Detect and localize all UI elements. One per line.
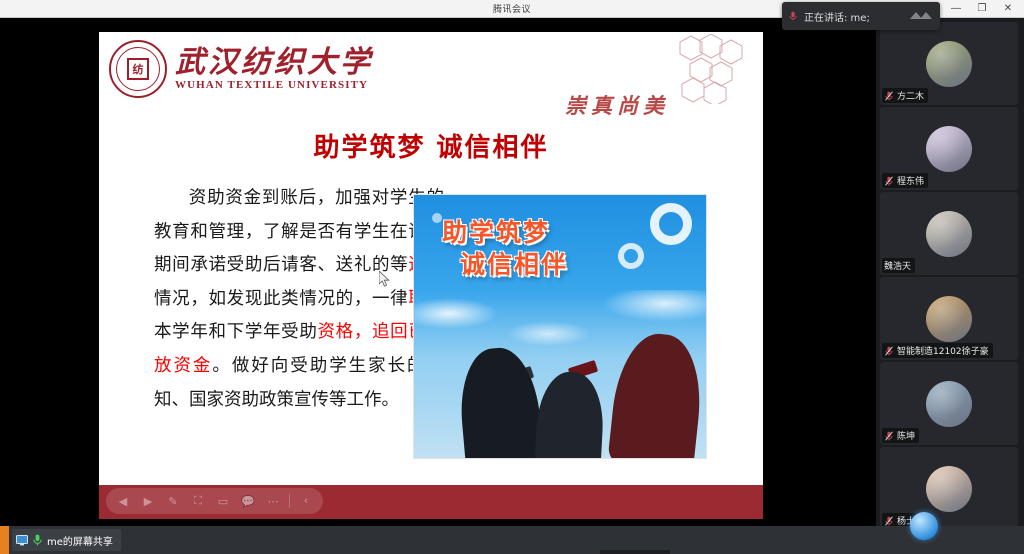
slide-title: 助学筑梦 诚信相伴 bbox=[99, 127, 763, 164]
presentation-toolbar[interactable]: ◀ ▶ ✎ ⛶ ▭ 💬 ⋯ ‹ bbox=[106, 488, 323, 514]
collapse-toolbar-button[interactable]: ‹ bbox=[295, 490, 317, 512]
university-branding: 纺 武汉纺织大学 WUHAN TEXTILE UNIVERSITY bbox=[109, 40, 373, 98]
cloud-decoration-icon bbox=[618, 243, 644, 269]
avatar bbox=[926, 211, 972, 257]
cloud-decoration-icon bbox=[432, 213, 442, 223]
start-button[interactable] bbox=[0, 526, 9, 554]
double-chevron-icon[interactable] bbox=[908, 9, 934, 23]
window-title: 腾讯会议 bbox=[493, 2, 531, 15]
photo-caption: 助学筑梦 诚信相伴 bbox=[442, 217, 568, 281]
graduate-figure bbox=[534, 370, 605, 459]
muted-mic-icon bbox=[884, 516, 894, 526]
participant-name: 智能制造12102徐子豪 bbox=[897, 344, 989, 357]
avatar bbox=[926, 41, 972, 87]
windows-taskbar: me的屏幕共享 bbox=[0, 526, 1024, 554]
microphone-icon bbox=[788, 11, 798, 21]
muted-mic-icon bbox=[884, 431, 894, 441]
window-controls: — ❐ ✕ bbox=[950, 0, 1020, 18]
hexagon-decoration-icon bbox=[671, 34, 745, 104]
muted-mic-icon bbox=[884, 176, 894, 186]
participant-tile[interactable]: 陈坤 bbox=[880, 362, 1018, 445]
prev-slide-button[interactable]: ◀ bbox=[112, 490, 134, 512]
participant-name: 程东伟 bbox=[897, 174, 924, 187]
camera-button[interactable]: ▭ bbox=[212, 490, 234, 512]
graduation-caps-photo: 助学筑梦 诚信相伴 bbox=[413, 194, 707, 459]
toolbar-divider bbox=[289, 494, 290, 508]
avatar bbox=[926, 381, 972, 427]
taskbar-notch bbox=[600, 550, 670, 554]
body-text: 本学年和下学年受助 bbox=[154, 322, 318, 342]
participant-name: 魏浩天 bbox=[884, 259, 911, 272]
more-options-button[interactable]: ⋯ bbox=[262, 490, 284, 512]
monitor-icon bbox=[16, 535, 28, 546]
participant-tile[interactable]: 智能制造12102徐子豪 bbox=[880, 277, 1018, 360]
participant-name: 陈坤 bbox=[897, 429, 915, 442]
maximize-button[interactable]: ❐ bbox=[976, 4, 988, 14]
graduate-figure bbox=[607, 330, 707, 459]
next-slide-button[interactable]: ▶ bbox=[137, 490, 159, 512]
participant-video-rail[interactable]: 方二木程东伟魏浩天智能制造12102徐子豪陈坤杨士杰 bbox=[876, 18, 1024, 526]
slide-body-text: 资助资金到账后，加强对学生的教育和管理，了解是否有学生在评审期间承诺受助后请客、… bbox=[154, 182, 444, 417]
body-text: 情况，如发现此类情况的，一律 bbox=[154, 289, 408, 309]
avatar bbox=[926, 126, 972, 172]
participant-name-chip: 方二木 bbox=[882, 88, 928, 103]
participant-name: 方二木 bbox=[897, 89, 924, 102]
graduate-figure bbox=[456, 345, 544, 459]
taskbar-item-label: me的屏幕共享 bbox=[47, 533, 113, 548]
university-motto: 崇真尚美 bbox=[565, 90, 669, 120]
active-speaker-banner[interactable]: 正在讲话: me; bbox=[782, 2, 940, 30]
participant-name-chip: 智能制造12102徐子豪 bbox=[882, 343, 993, 358]
avatar bbox=[926, 466, 972, 512]
cloud-decoration-icon bbox=[650, 203, 692, 245]
microphone-green-icon bbox=[33, 534, 42, 546]
shared-screen-stage: 纺 武汉纺织大学 WUHAN TEXTILE UNIVERSITY 崇真尚美 bbox=[0, 18, 876, 526]
body-text: 资助资金到账后，加强对学生的教育和管理，了解是否有学生在评审期间承诺受助后请客、… bbox=[154, 188, 444, 275]
participant-tile[interactable]: 方二木 bbox=[880, 22, 1018, 105]
crest-center-char: 纺 bbox=[127, 58, 149, 80]
participant-name-chip: 陈坤 bbox=[882, 428, 919, 443]
pen-annotation-button[interactable]: ✎ bbox=[162, 490, 184, 512]
taskbar-item-screen-share[interactable]: me的屏幕共享 bbox=[12, 529, 121, 551]
participant-tile[interactable]: 杨士杰 bbox=[880, 447, 1018, 526]
photo-caption-line1: 助学筑梦 bbox=[442, 218, 550, 247]
university-name-cn: 武汉纺织大学 bbox=[175, 47, 373, 79]
close-button[interactable]: ✕ bbox=[1002, 4, 1014, 14]
university-crest-icon: 纺 bbox=[109, 40, 167, 98]
participant-tile[interactable]: 魏浩天 bbox=[880, 192, 1018, 275]
active-speaker-label: 正在讲话: me; bbox=[804, 9, 870, 24]
presentation-slide[interactable]: 纺 武汉纺织大学 WUHAN TEXTILE UNIVERSITY 崇真尚美 bbox=[99, 32, 763, 519]
photo-caption-line2: 诚信相伴 bbox=[460, 249, 568, 281]
avatar bbox=[926, 296, 972, 342]
reaction-orb-indicator[interactable] bbox=[910, 512, 938, 540]
meeting-screen-share-window: 腾讯会议 — ❐ ✕ 纺 武汉纺织大学 WUHAN TEXTILE UNIVER… bbox=[0, 0, 1024, 554]
minimize-button[interactable]: — bbox=[950, 4, 962, 14]
subtitle-button[interactable]: 💬 bbox=[237, 490, 259, 512]
participant-name-chip: 魏浩天 bbox=[882, 258, 915, 273]
muted-mic-icon bbox=[884, 346, 894, 356]
participant-name-chip: 程东伟 bbox=[882, 173, 928, 188]
graduates-silhouettes bbox=[414, 311, 706, 458]
university-name-en: WUHAN TEXTILE UNIVERSITY bbox=[175, 79, 373, 91]
participant-tile[interactable]: 程东伟 bbox=[880, 107, 1018, 190]
all-slides-button[interactable]: ⛶ bbox=[187, 490, 209, 512]
muted-mic-icon bbox=[884, 91, 894, 101]
